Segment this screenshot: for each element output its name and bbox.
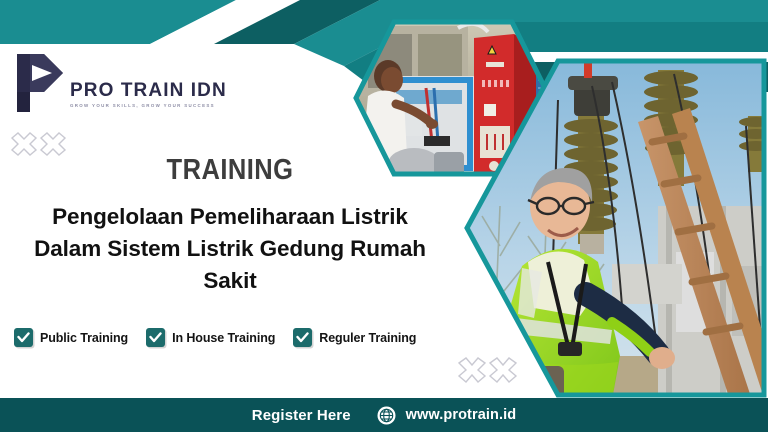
check-icon xyxy=(146,328,165,347)
substation-engineer-photo xyxy=(462,56,768,400)
badge-reguler-training[interactable]: Reguler Training xyxy=(293,328,416,347)
globe-icon xyxy=(377,406,396,425)
headline-block: TRAINING Pengelolaan Pemeliharaan Listri… xyxy=(0,156,460,297)
brand-name: PRO TRAIN IDN xyxy=(70,81,227,100)
badge-public-training[interactable]: Public Training xyxy=(14,328,128,347)
brand-logo: PRO TRAIN IDN GROW YOUR SKILLS, GROW YOU… xyxy=(14,52,227,114)
course-title: Pengelolaan Pemeliharaan Listrik Dalam S… xyxy=(0,201,460,297)
register-here-label[interactable]: Register Here xyxy=(252,407,351,424)
eyebrow-training: TRAINING xyxy=(28,156,433,185)
protrain-arrow-mark-icon xyxy=(14,52,66,114)
badge-label: Reguler Training xyxy=(319,331,416,345)
badge-label: Public Training xyxy=(40,331,128,345)
check-icon xyxy=(14,328,33,347)
x-ornament-bottom xyxy=(455,357,521,391)
badge-in-house-training[interactable]: In House Training xyxy=(146,328,275,347)
check-icon xyxy=(293,328,312,347)
brand-tagline: GROW YOUR SKILLS, GROW YOUR SUCCESS xyxy=(70,104,227,108)
footer-bar: Register Here www.protrain.id xyxy=(0,398,768,432)
website-group[interactable]: www.protrain.id xyxy=(377,406,517,425)
website-url[interactable]: www.protrain.id xyxy=(406,407,517,423)
badge-label: In House Training xyxy=(172,331,275,345)
training-type-badges: Public Training In House Training Regule… xyxy=(14,328,416,347)
training-poster: PRO TRAIN IDN GROW YOUR SKILLS, GROW YOU… xyxy=(0,0,768,432)
